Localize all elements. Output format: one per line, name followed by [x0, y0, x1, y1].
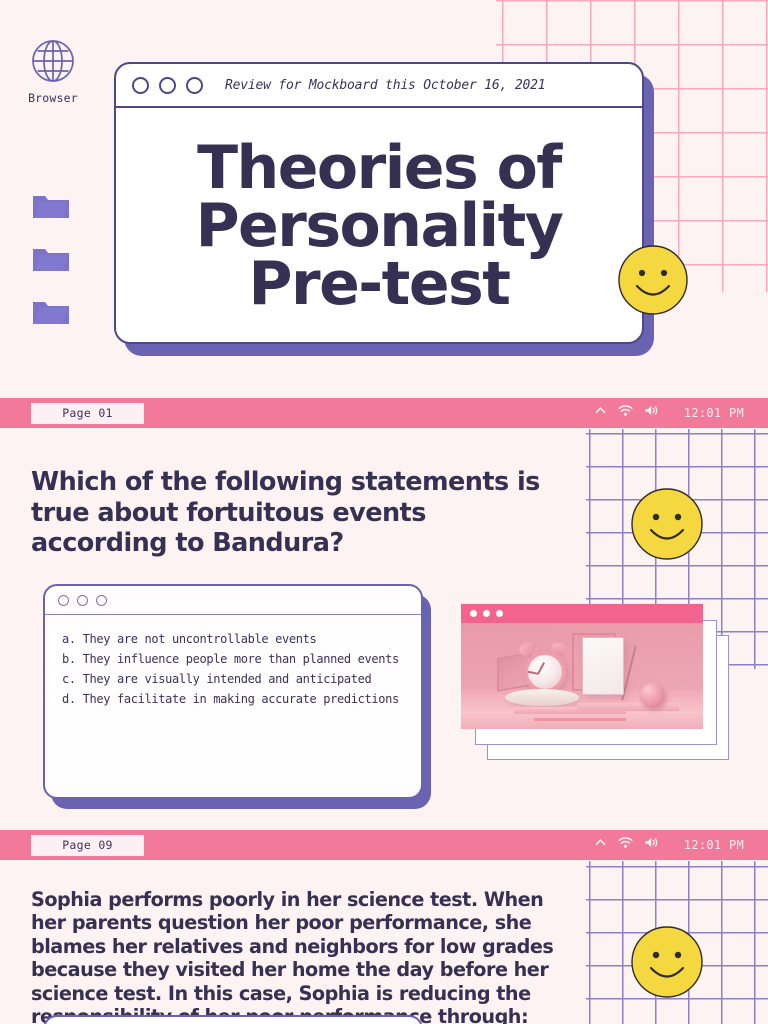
illustration-window-titlebar	[461, 604, 703, 623]
folder-icon[interactable]	[31, 245, 71, 280]
title-line-3: Pre-test	[249, 249, 510, 319]
window-titlebar	[45, 586, 421, 615]
desktop-folder-list	[31, 192, 71, 333]
slide-question-01: Which of the following statements is tru…	[0, 429, 768, 830]
answer-option-c[interactable]: c. They are visually intended and antici…	[62, 669, 404, 689]
smiley-face-icon	[616, 243, 690, 322]
window-content: Theories of Personality Pre-test	[116, 108, 642, 344]
clock-time: 12:01 PM	[684, 406, 744, 420]
folder-icon[interactable]	[31, 298, 71, 333]
window-maximize-dot-icon[interactable]	[496, 610, 503, 617]
photo-sphere	[640, 683, 665, 708]
photo-slab	[534, 718, 626, 721]
clock-time: 12:01 PM	[684, 838, 744, 852]
illustration-card-stack	[461, 604, 703, 729]
wifi-icon[interactable]	[618, 404, 633, 422]
answer-option-b[interactable]: b. They influence people more than plann…	[62, 649, 404, 669]
chevron-up-icon[interactable]	[594, 404, 607, 422]
window-close-dot-icon[interactable]	[132, 77, 149, 94]
window-close-dot-icon[interactable]	[470, 610, 477, 617]
window-minimize-dot-icon[interactable]	[159, 77, 176, 94]
statusbar-page-01: Page 01 12:01 PM	[0, 398, 768, 428]
slide-title: Browser	[0, 0, 768, 398]
window-title-text: Review for Mockboard this October 16, 20…	[225, 78, 545, 93]
window-minimize-dot-icon[interactable]	[483, 610, 490, 617]
smiley-face-icon	[629, 486, 705, 567]
window-body: a. They are not uncontrollable events b.…	[43, 584, 423, 799]
window-body	[43, 1015, 423, 1024]
answer-option-a[interactable]: a. They are not uncontrollable events	[62, 629, 404, 649]
system-tray: 12:01 PM	[594, 836, 744, 854]
photo-podium	[505, 689, 579, 706]
folder-icon[interactable]	[31, 192, 71, 227]
chevron-up-icon[interactable]	[594, 836, 607, 854]
alarm-clock-photo	[461, 623, 703, 729]
answer-options-list: a. They are not uncontrollable events b.…	[45, 615, 421, 710]
page-title: Theories of Personality Pre-test	[182, 139, 577, 314]
title-window: Review for Mockboard this October 16, 20…	[114, 62, 644, 344]
question-text: Sophia performs poorly in her science te…	[31, 888, 569, 1024]
page-number-badge[interactable]: Page 09	[31, 835, 144, 856]
answer-option-d[interactable]: d. They facilitate in making accurate pr…	[62, 689, 404, 709]
answers-window	[43, 1015, 423, 1024]
browser-shortcut-label: Browser	[22, 91, 84, 105]
window-close-dot-icon[interactable]	[58, 595, 69, 606]
illustration-window	[461, 604, 703, 729]
window-minimize-dot-icon[interactable]	[77, 595, 88, 606]
photo-blank-frame	[582, 637, 624, 695]
globe-icon	[22, 38, 84, 89]
smiley-face-icon	[629, 924, 705, 1005]
system-tray: 12:01 PM	[594, 404, 744, 422]
volume-icon[interactable]	[644, 836, 659, 854]
window-maximize-dot-icon[interactable]	[186, 77, 203, 94]
question-text: Which of the following statements is tru…	[31, 467, 551, 559]
statusbar-page-09: Page 09 12:01 PM	[0, 830, 768, 860]
page-number-badge[interactable]: Page 01	[31, 403, 144, 424]
photo-slab	[577, 703, 679, 711]
wifi-icon[interactable]	[618, 836, 633, 854]
window-body: Review for Mockboard this October 16, 20…	[114, 62, 644, 344]
answers-window: a. They are not uncontrollable events b.…	[43, 584, 423, 799]
desktop-shortcut-browser[interactable]: Browser	[22, 38, 84, 105]
volume-icon[interactable]	[644, 404, 659, 422]
window-titlebar: Review for Mockboard this October 16, 20…	[116, 64, 642, 108]
slide-question-09: Sophia performs poorly in her science te…	[0, 861, 768, 1024]
presentation-page: Browser	[0, 0, 768, 1024]
window-maximize-dot-icon[interactable]	[96, 595, 107, 606]
